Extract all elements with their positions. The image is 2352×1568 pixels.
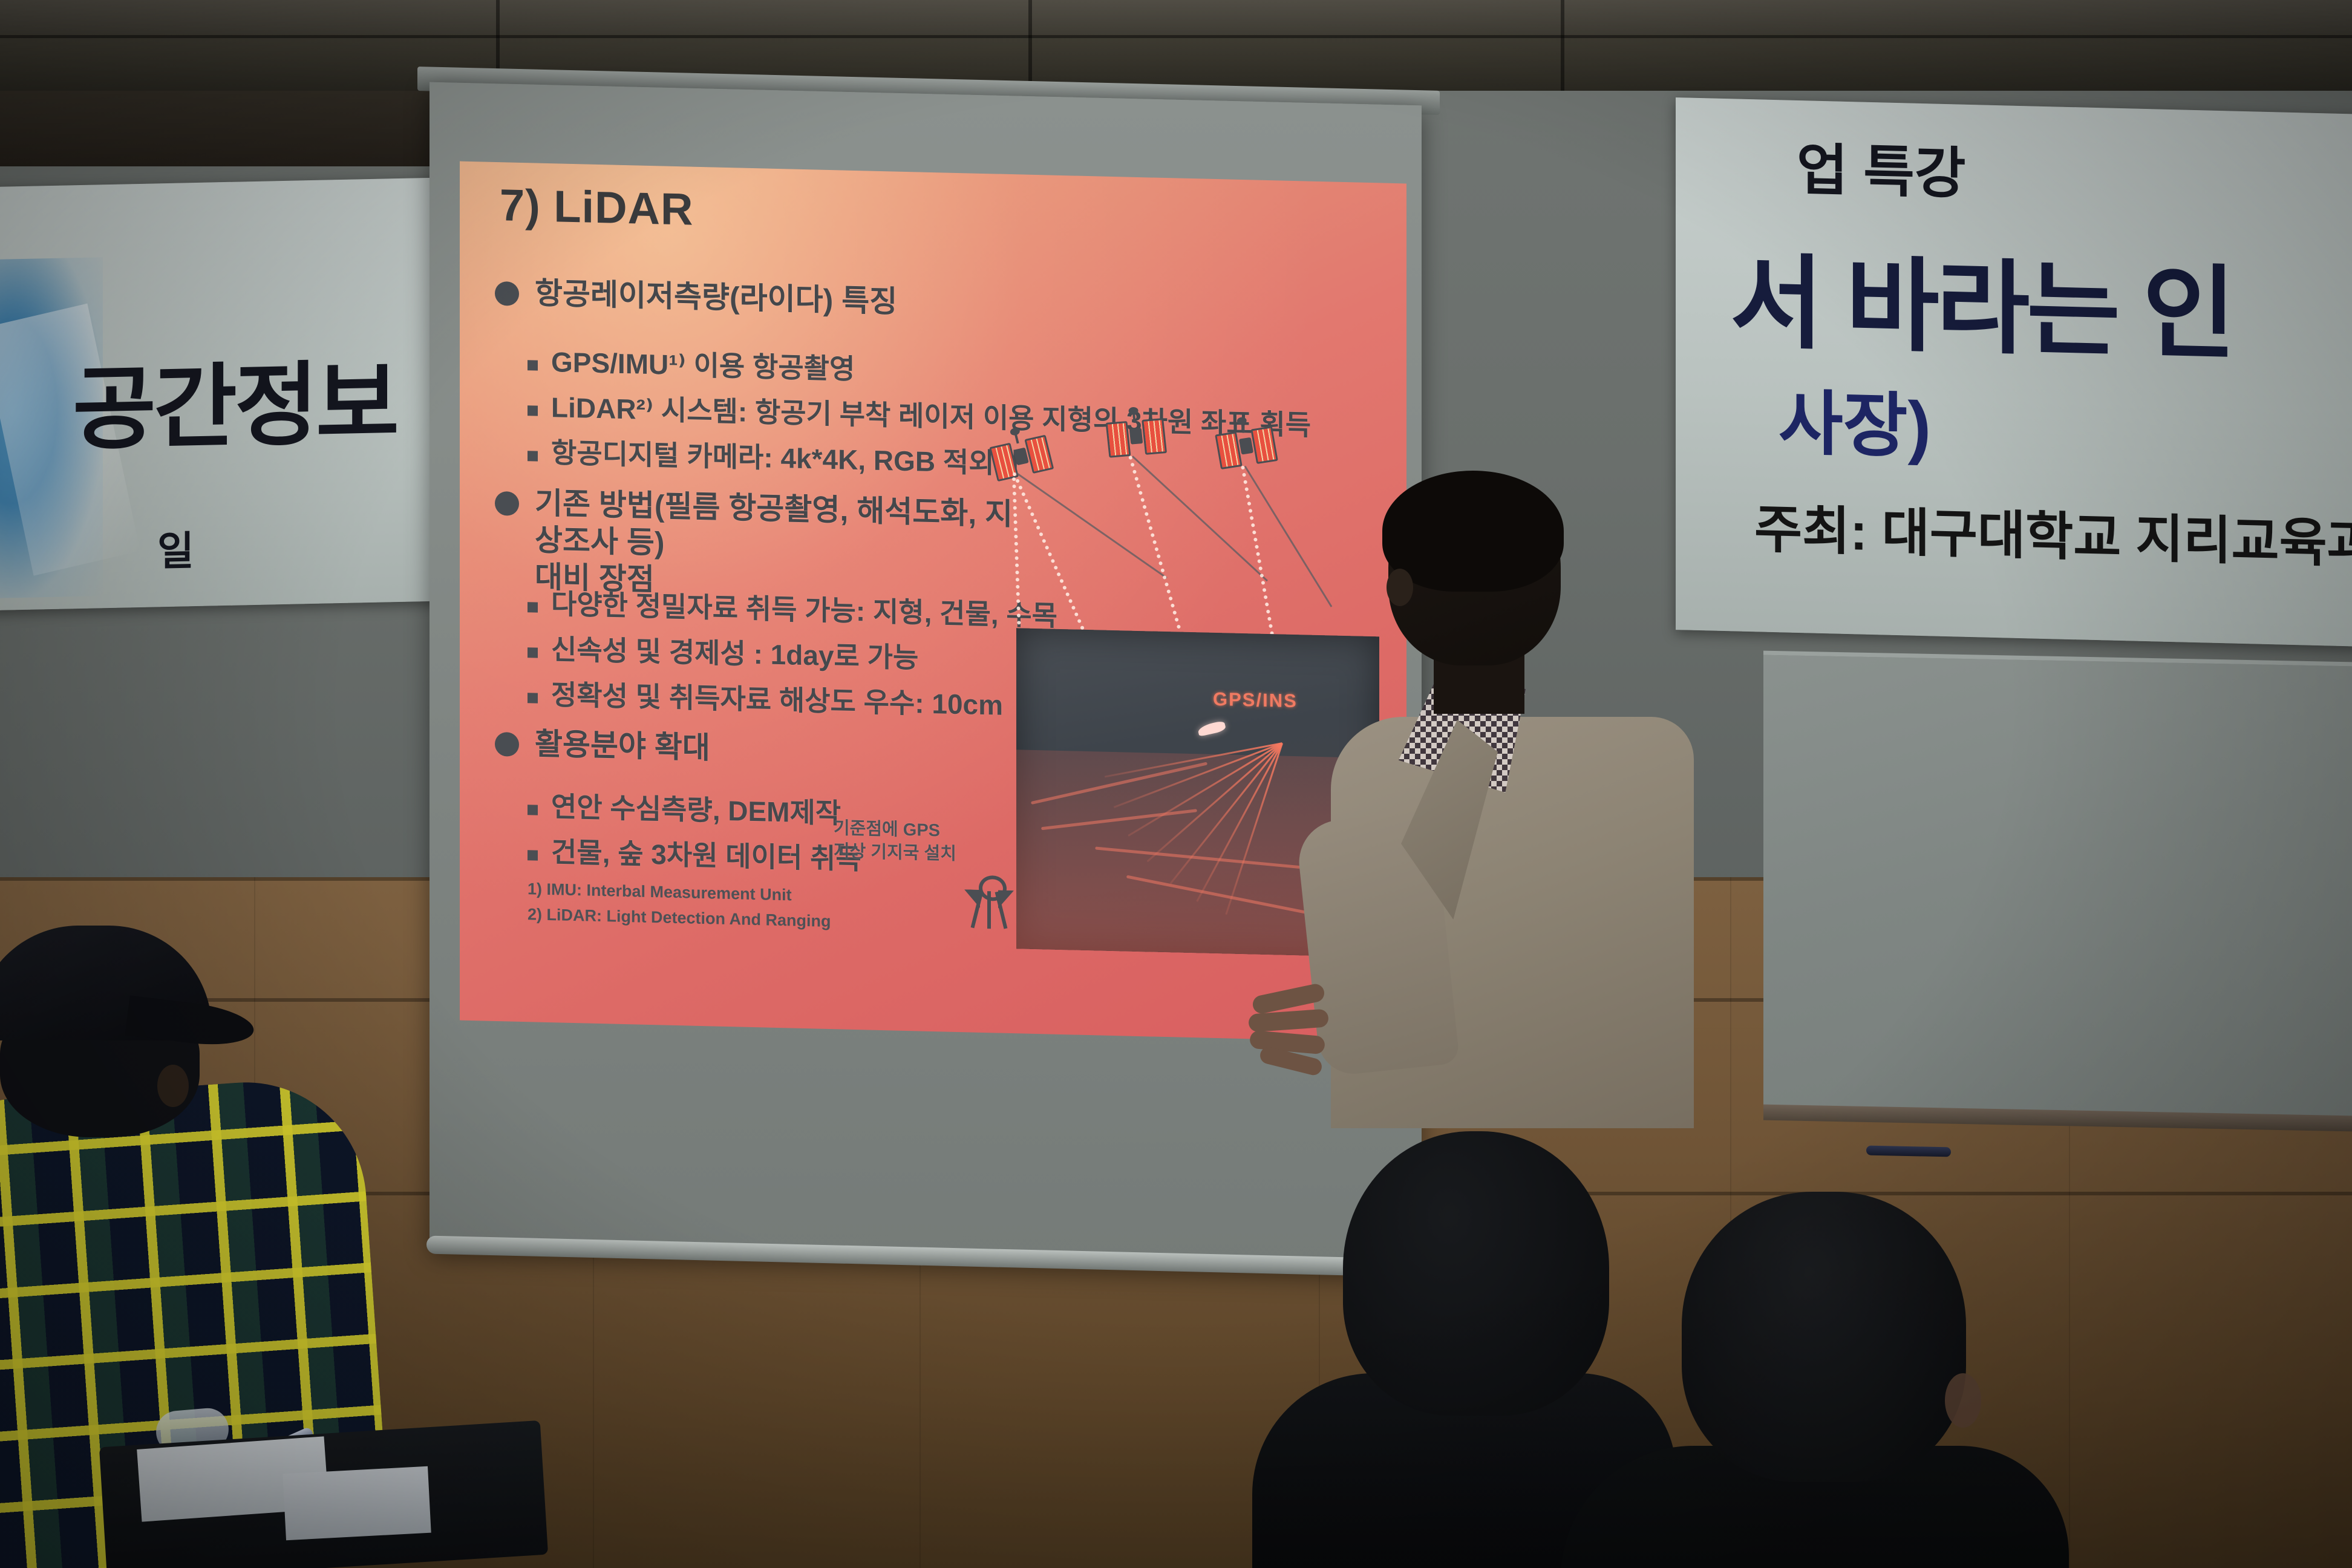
banner-right-small-line: 업 특강	[1797, 125, 1965, 209]
presenter-hand	[1246, 986, 1355, 1077]
bullet-text: 항공디지털 카메라: 4k*4K, RGB 적외선	[551, 436, 1020, 481]
section-2-bullets: 다양한 정밀자료 취득 가능: 지형, 건물, 수목 신속성 및 경제성 : 1…	[528, 586, 1057, 735]
banner-right: 업 특강 서 바라는 인 사장) 주최: 대구대학교 지리교육과	[1676, 97, 2352, 647]
audience-front-right-b	[1585, 1192, 2045, 1568]
audience-ear	[157, 1065, 189, 1107]
bullet-text: 연안 수심측량, DEM제작	[551, 789, 841, 831]
bullet-square-icon	[528, 805, 538, 815]
slide-section-heading: 활용분야 확대	[495, 725, 710, 766]
list-item: 건물, 숲 3차원 데이터 취득	[528, 834, 861, 877]
section-3-bullets: 연안 수심측량, DEM제작 건물, 숲 3차원 데이터 취득	[528, 789, 861, 887]
bullet-dot-icon	[495, 281, 519, 306]
bullet-square-icon	[528, 693, 538, 703]
marker-pen[interactable]	[1866, 1146, 1951, 1157]
section-3-heading: 활용분야 확대	[535, 725, 710, 766]
ground-station-note: 기준점에 GPS 지상 기지국 설치	[834, 817, 956, 866]
gps-signal-line	[1132, 456, 1268, 581]
audience-head	[1343, 1131, 1609, 1416]
presenter	[1258, 478, 1694, 1119]
bullet-square-icon	[528, 360, 538, 370]
lecture-hall-photo: 공간정보 일 업 특강 서 바라는 인 사장) 주최: 대구대학교 지리교육과 …	[0, 0, 2352, 1568]
bullet-square-icon	[528, 405, 538, 416]
banner-right-headline: 서 바라는 인	[1730, 220, 2233, 379]
ceiling-seam	[1028, 0, 1032, 91]
bullet-square-icon	[528, 647, 538, 658]
bullet-text: 건물, 숲 3차원 데이터 취득	[551, 835, 861, 877]
gps-ground-station-icon	[968, 875, 1010, 928]
slide-title: 7) LiDAR	[500, 179, 693, 235]
presenter-hair	[1382, 471, 1564, 592]
gps-satellite-icon	[1106, 418, 1167, 454]
audience-head	[1682, 1192, 1966, 1482]
bullet-text: GPS/IMU¹⁾ 이용 항공촬영	[551, 345, 855, 387]
slide-footnotes: 1) IMU: Interbal Measurement Unit 2) LiD…	[528, 877, 831, 935]
banner-right-host: 주최: 대구대학교 지리교육과	[1754, 486, 2352, 577]
paper-sheet[interactable]	[283, 1466, 431, 1540]
gps-satellite-icon	[989, 435, 1053, 479]
presenter-ear	[1387, 569, 1413, 606]
banner-left-title: 공간정보	[73, 330, 397, 468]
banner-left-subtitle: 일	[157, 518, 194, 577]
aircraft-icon	[1197, 720, 1227, 737]
bullet-dot-icon	[495, 732, 519, 757]
bullet-square-icon	[528, 602, 538, 612]
list-item: 정확성 및 취득자료 해상도 우수: 10cm	[528, 677, 1057, 724]
wall-shadow-band	[0, 91, 460, 166]
list-item: 신속성 및 경제성 : 1day로 가능	[528, 632, 1057, 679]
bullet-dot-icon	[495, 491, 519, 516]
banner-right-blue-line: 사장)	[1779, 366, 1931, 471]
ceiling-strip	[0, 0, 2352, 34]
ceiling-seam	[1561, 0, 1564, 91]
ceiling-seam	[0, 35, 2352, 38]
ceiling	[0, 0, 2352, 91]
bullet-square-icon	[528, 850, 538, 860]
list-item: 연안 수심측량, DEM제작	[528, 789, 861, 831]
audience-ear	[1945, 1373, 1981, 1428]
whiteboard	[1763, 651, 2352, 1126]
bullet-text: 신속성 및 경제성 : 1day로 가능	[551, 632, 918, 675]
bullet-square-icon	[528, 451, 538, 461]
bullet-text: 정확성 및 취득자료 해상도 우수: 10cm	[551, 678, 1003, 723]
